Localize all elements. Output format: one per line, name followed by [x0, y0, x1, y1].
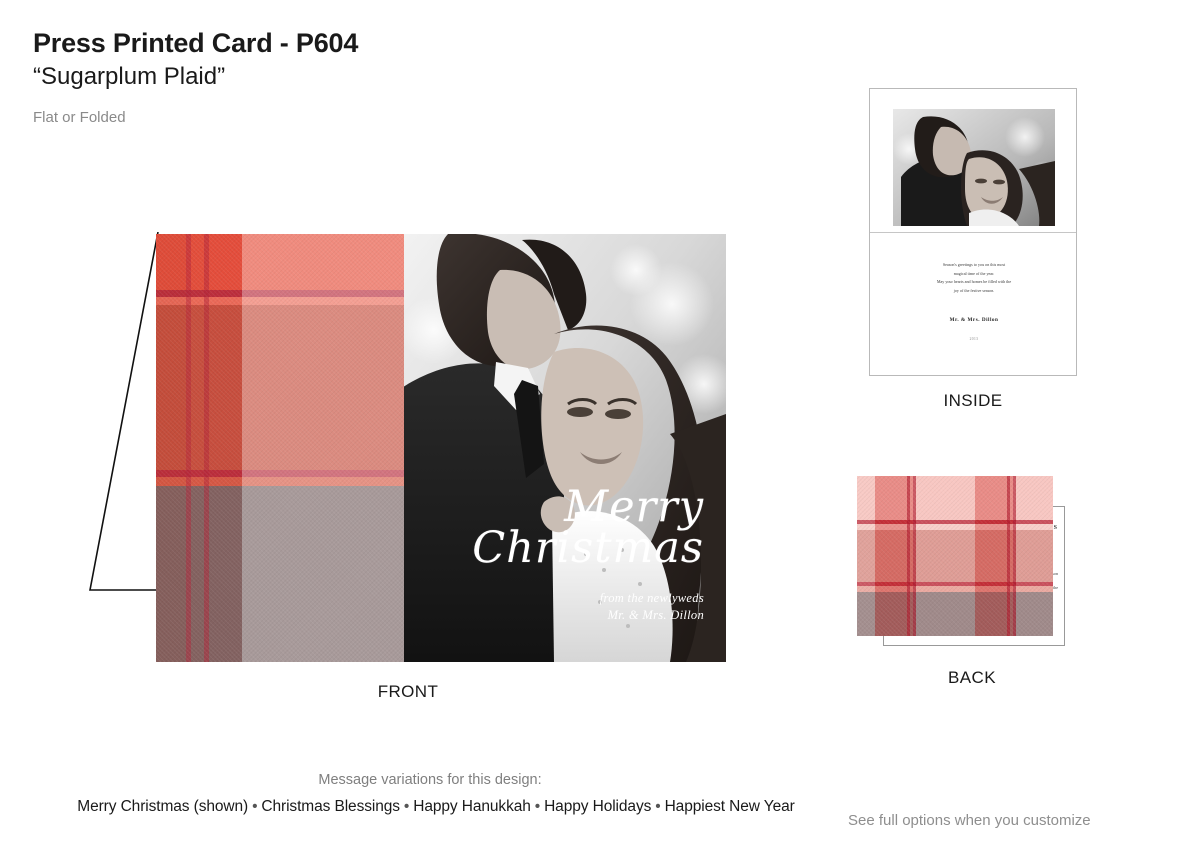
inside-card-group: Season's greetings to you on this most m…: [869, 88, 1077, 376]
variation-separator: •: [248, 798, 261, 815]
page-title: Press Printed Card - P604: [33, 28, 358, 60]
inside-names: Mr. & Mrs. Dillon: [888, 317, 1060, 323]
front-plaid-panel: [156, 234, 404, 662]
variation-separator: •: [651, 798, 664, 815]
customize-note: See full options when you customize: [848, 812, 1091, 829]
card-preview-page: Press Printed Card - P604 “Sugarplum Pla…: [0, 0, 1200, 865]
plaid-stripe: [191, 234, 204, 662]
inside-message-line-4: joy of the festive season.: [888, 287, 1060, 296]
card-fold-outline: [88, 232, 160, 598]
design-name: “Sugarplum Plaid”: [33, 62, 358, 92]
variation-item: Christmas Blessings: [261, 798, 400, 815]
inside-fold-line: [870, 232, 1076, 233]
front-card-photo: [404, 234, 726, 662]
variations-list: Merry Christmas (shown)•Christmas Blessi…: [0, 798, 872, 816]
variation-item: Merry Christmas (shown): [77, 798, 248, 815]
back-plaid-card[interactable]: [857, 476, 1053, 636]
plaid-stripe: [1016, 476, 1053, 636]
plaid-stripe: [857, 476, 875, 636]
back-caption-label: BACK: [857, 668, 1087, 688]
variation-item: Happy Holidays: [544, 798, 651, 815]
variation-separator: •: [531, 798, 544, 815]
plaid-stripe: [209, 234, 242, 662]
inside-message-line-3: May your hearts and homes be filled with…: [888, 278, 1060, 287]
variation-item: Happiest New Year: [665, 798, 795, 815]
front-card[interactable]: Merry Christmas from the newlyweds Mr. &…: [156, 234, 726, 662]
inside-year: 2013: [888, 337, 1060, 341]
plaid-stripe: [1007, 476, 1010, 636]
inside-caption-label: INSIDE: [869, 391, 1077, 411]
inside-message-line-2: magical time of the year.: [888, 270, 1060, 279]
inside-card[interactable]: Season's greetings to you on this most m…: [869, 88, 1077, 376]
front-caption-label: FRONT: [88, 682, 728, 702]
plaid-stripe: [916, 476, 975, 636]
inside-card-photo: [893, 109, 1055, 226]
inside-message-line-1: Season's greetings to you on this most: [888, 261, 1060, 270]
plaid-stripe: [156, 234, 186, 662]
page-header: Press Printed Card - P604 “Sugarplum Pla…: [33, 28, 358, 126]
inside-message: Season's greetings to you on this most m…: [888, 261, 1060, 295]
plaid-stripe: [242, 234, 404, 662]
variations-heading: Message variations for this design:: [0, 772, 860, 788]
plaid-stripe: [907, 476, 910, 636]
variation-item: Happy Hanukkah: [413, 798, 531, 815]
variation-separator: •: [400, 798, 413, 815]
format-note: Flat or Folded: [33, 109, 358, 126]
